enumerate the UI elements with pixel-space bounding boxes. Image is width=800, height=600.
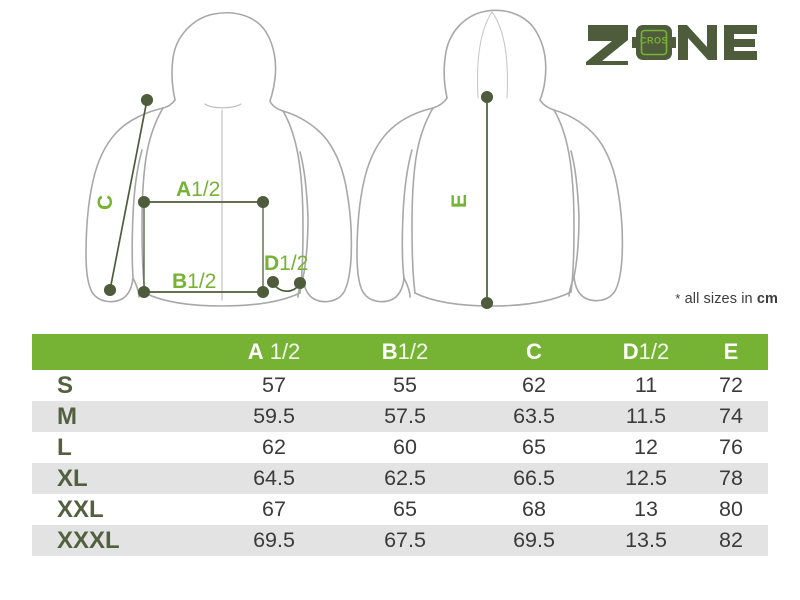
table-row: XXL6765681380 <box>32 494 768 525</box>
col-letter-E: E <box>724 339 739 364</box>
cell-e: 80 <box>694 494 768 525</box>
column-header-C: C <box>470 334 598 370</box>
size-label-cell: XXL <box>32 494 208 525</box>
jacket-front-outline <box>86 13 351 306</box>
col-fraction-D: 1/2 <box>639 339 670 364</box>
col-letter-C: C <box>526 339 542 364</box>
cell-e: 78 <box>694 463 768 494</box>
column-header-size <box>32 334 208 370</box>
size-label-cell: XXXL <box>32 525 208 556</box>
table-row: M59.557.563.511.574 <box>32 401 768 432</box>
table-row: XL64.562.566.512.578 <box>32 463 768 494</box>
col-letter-D: D <box>623 339 639 364</box>
cell-c: 62 <box>470 370 598 401</box>
size-chart-table: A 1/2 B1/2 C D1/2 E S5755621172M59.557.5… <box>32 334 768 556</box>
cell-a: 64.5 <box>208 463 340 494</box>
cell-c: 63.5 <box>470 401 598 432</box>
cell-d: 12.5 <box>598 463 694 494</box>
note-text: all sizes in <box>685 291 753 307</box>
measure-label-A: A1/2 <box>176 178 220 201</box>
cell-a: 57 <box>208 370 340 401</box>
cell-d: 11 <box>598 370 694 401</box>
size-label-cell: S <box>32 370 208 401</box>
cell-b: 60 <box>340 432 470 463</box>
cell-a: 62 <box>208 432 340 463</box>
cell-a: 67 <box>208 494 340 525</box>
size-label-cell: L <box>32 432 208 463</box>
cell-c: 69.5 <box>470 525 598 556</box>
cell-a: 69.5 <box>208 525 340 556</box>
size-label-cell: M <box>32 401 208 432</box>
column-header-B: B1/2 <box>340 334 470 370</box>
col-fraction-A: 1/2 <box>264 339 301 364</box>
column-header-A: A 1/2 <box>208 334 340 370</box>
note-unit: cm <box>757 291 778 307</box>
table-row: L6260651276 <box>32 432 768 463</box>
measure-line-D <box>268 277 305 291</box>
col-letter-A: A <box>248 339 264 364</box>
cell-e: 76 <box>694 432 768 463</box>
cell-e: 82 <box>694 525 768 556</box>
measure-letter-A: A <box>176 178 191 201</box>
col-letter-B: B <box>382 339 398 364</box>
table-header-row: A 1/2 B1/2 C D1/2 E <box>32 334 768 370</box>
measure-fraction-D: 1/2 <box>279 252 308 275</box>
measure-letter-D: D <box>264 252 279 275</box>
cell-d: 12 <box>598 432 694 463</box>
measure-label-D: D1/2 <box>264 252 308 275</box>
table-body: S5755621172M59.557.563.511.574L626065127… <box>32 370 768 556</box>
measure-label-B: B1/2 <box>172 270 216 293</box>
measure-label-C: C <box>94 195 117 210</box>
cell-b: 62.5 <box>340 463 470 494</box>
cell-d: 13.5 <box>598 525 694 556</box>
cell-a: 59.5 <box>208 401 340 432</box>
col-fraction-B: 1/2 <box>398 339 429 364</box>
measure-line-E <box>482 92 492 308</box>
cell-b: 55 <box>340 370 470 401</box>
column-header-D: D1/2 <box>598 334 694 370</box>
table-row: XXXL69.567.569.513.582 <box>32 525 768 556</box>
cell-d: 11.5 <box>598 401 694 432</box>
cell-c: 68 <box>470 494 598 525</box>
measure-fraction-B: 1/2 <box>187 270 216 293</box>
cell-e: 74 <box>694 401 768 432</box>
measure-letter-B: B <box>172 270 187 293</box>
cell-d: 13 <box>598 494 694 525</box>
table-row: S5755621172 <box>32 370 768 401</box>
cell-b: 67.5 <box>340 525 470 556</box>
note-asterisk: * <box>675 291 680 306</box>
size-label-cell: XL <box>32 463 208 494</box>
cell-b: 65 <box>340 494 470 525</box>
measure-fraction-A: 1/2 <box>191 178 220 201</box>
cell-c: 65 <box>470 432 598 463</box>
jacket-back-outline <box>357 10 622 306</box>
measure-label-E: E <box>448 194 471 208</box>
cell-b: 57.5 <box>340 401 470 432</box>
units-note: * all sizes in cm <box>675 291 778 307</box>
column-header-E: E <box>694 334 768 370</box>
cell-e: 72 <box>694 370 768 401</box>
cell-c: 66.5 <box>470 463 598 494</box>
jacket-diagram: A1/2 B1/2 C D1/2 E <box>0 0 800 325</box>
